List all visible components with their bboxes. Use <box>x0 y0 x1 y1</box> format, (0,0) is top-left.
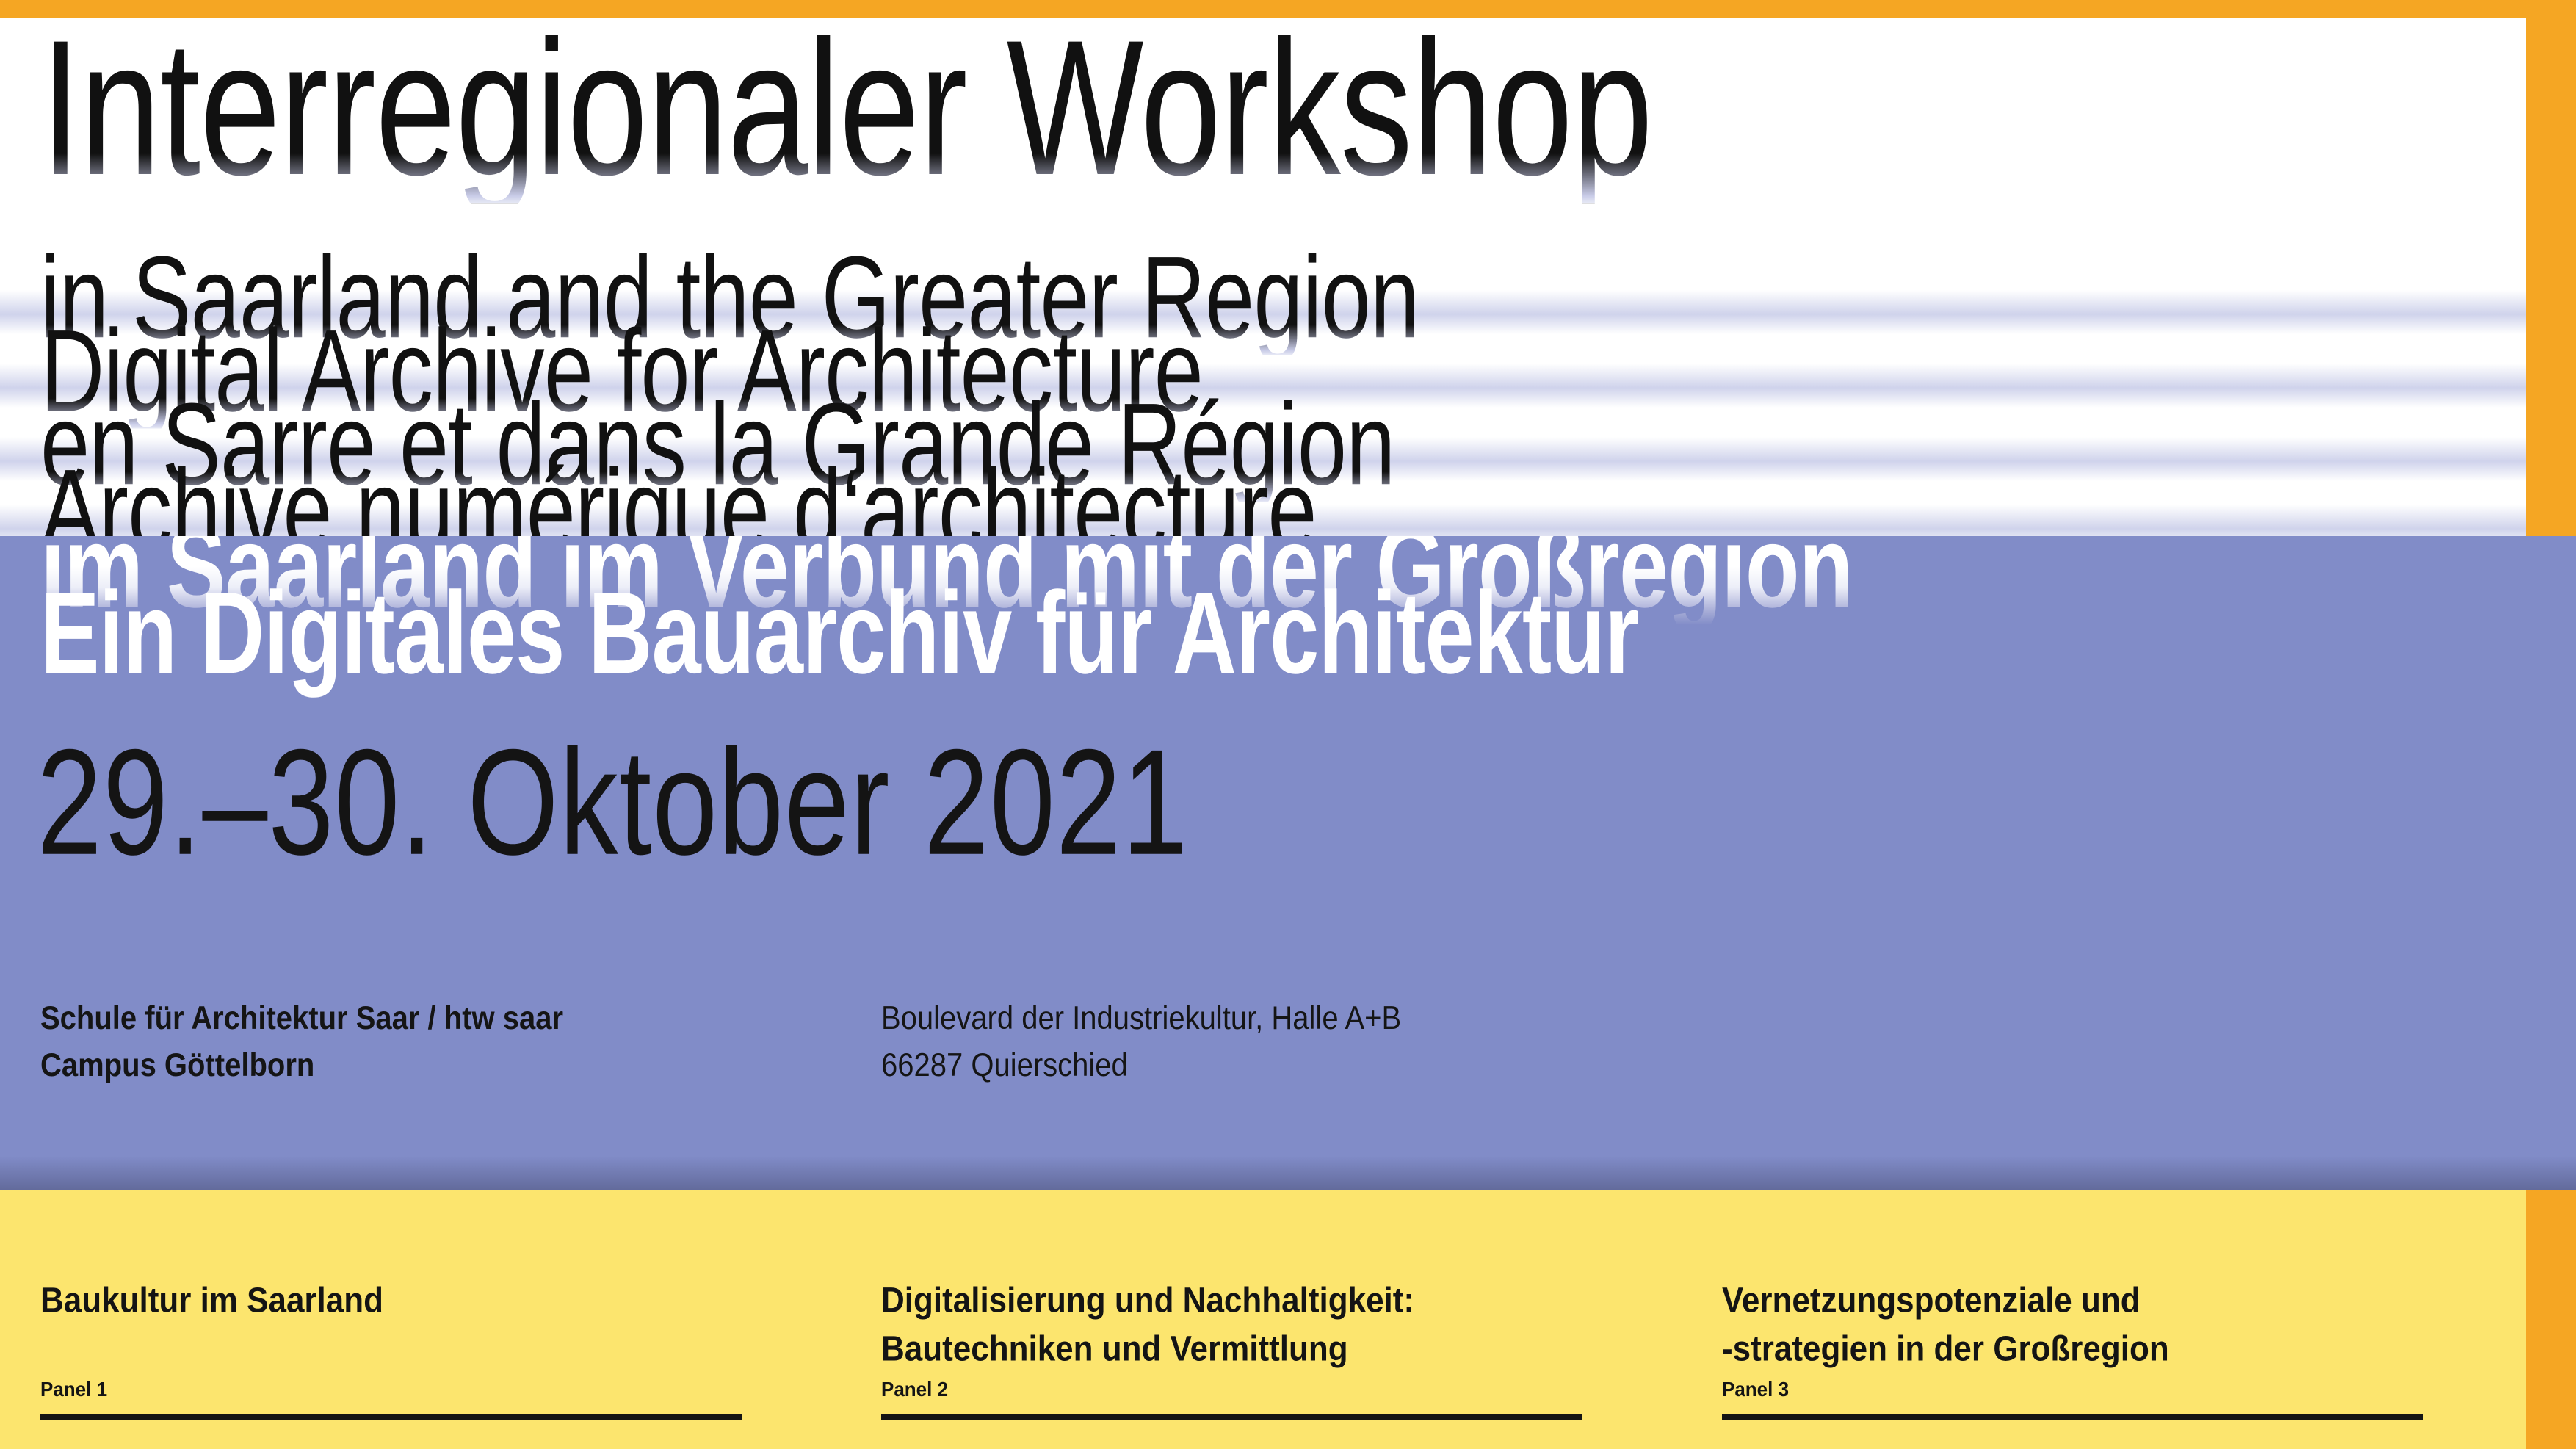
poster-root: Interregionaler Workshop in Saarland and… <box>0 0 2576 1449</box>
panel-rule-1 <box>40 1414 742 1420</box>
panels-grid: Baukultur im Saarland Panel 1 Digitalisi… <box>0 1190 2526 1449</box>
panel-title-1: Baukultur im Saarland <box>40 1276 742 1325</box>
headline-line-interregionaler-workshop: Interregionaler Workshop <box>40 18 1652 203</box>
orange-rail-right <box>2526 0 2576 536</box>
panel-title-2: Digitalisierung und Nachhaltigkeit: Baut… <box>881 1276 1582 1373</box>
panel-label-3: Panel 3 <box>1722 1377 1789 1401</box>
panel-label-2: Panel 2 <box>881 1377 948 1401</box>
panel-title-2-line-1: Digitalisierung und Nachhaltigkeit: <box>881 1276 1582 1325</box>
venue-block: Schule für Architektur Saar / htw saar C… <box>40 995 563 1089</box>
panel-title-3-line-2: -strategien in der Großregion <box>1722 1325 2423 1373</box>
panel-rule-3 <box>1722 1414 2423 1420</box>
event-date: 29.–30. Oktober 2021 <box>37 727 1188 878</box>
panels-band: Baukultur im Saarland Panel 1 Digitalisi… <box>0 1190 2526 1449</box>
panel-title-3-line-1: Vernetzungspotenziale und <box>1722 1276 2423 1325</box>
headline-line-archive-numerique: Archive numérique d‘architecture <box>40 452 1317 536</box>
panel-label-1: Panel 1 <box>40 1377 107 1401</box>
headline-line-ein-digitales-bauarchiv: Ein Digitales Bauarchiv für Architektur <box>40 574 1638 691</box>
venue-line-2: Campus Göttelborn <box>40 1042 563 1089</box>
orange-rail-top <box>0 0 2576 18</box>
address-block: Boulevard der Industriekultur, Halle A+B… <box>881 995 1401 1089</box>
address-line-2: 66287 Quierschied <box>881 1042 1401 1089</box>
panel-title-1-line-1: Baukultur im Saarland <box>40 1276 742 1325</box>
panel-item-2[interactable]: Digitalisierung und Nachhaltigkeit: Baut… <box>881 1190 1582 1449</box>
panel-title-3: Vernetzungspotenziale und -strategien in… <box>1722 1276 2423 1373</box>
panel-rule-2 <box>881 1414 1582 1420</box>
panel-item-1[interactable]: Baukultur im Saarland Panel 1 <box>40 1190 742 1449</box>
address-line-1: Boulevard der Industriekultur, Halle A+B <box>881 995 1401 1042</box>
headline-card: Interregionaler Workshop in Saarland and… <box>0 18 2526 536</box>
panel-item-3[interactable]: Vernetzungspotenziale und -strategien in… <box>1722 1190 2423 1449</box>
event-band: im Saarland im Verbund mit der Großregio… <box>0 536 2576 1190</box>
panel-title-2-line-2: Bautechniken und Vermittlung <box>881 1325 1582 1373</box>
venue-line-1: Schule für Architektur Saar / htw saar <box>40 995 563 1042</box>
